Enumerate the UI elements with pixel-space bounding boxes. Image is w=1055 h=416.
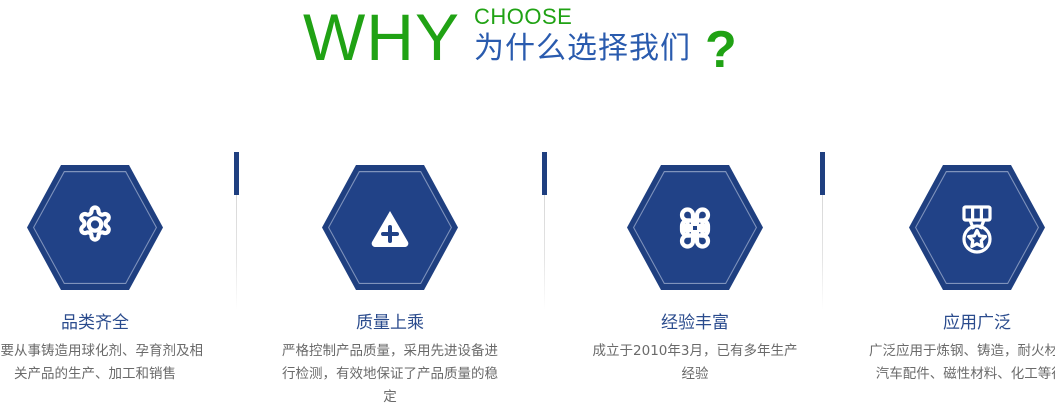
card-title: 品类齐全 — [0, 312, 227, 334]
hexagon-badge — [322, 165, 458, 290]
feature-card-application[interactable]: 应用广泛 广泛应用于炼钢、铸造，耐火材料、汽车配件、磁性材料、化工等行业 — [845, 150, 1055, 386]
header-chinese-title: 为什么选择我们 — [474, 32, 691, 66]
choose-word: CHOOSE — [474, 5, 691, 29]
feature-card-experience[interactable]: 经验丰富 成立于2010年3月，已有多年生产经验 — [563, 150, 827, 386]
feature-cards-row: 品类齐全 主要从事铸造用球化剂、孕育剂及相关产品的生产、加工和销售 质量上乘 严… — [0, 150, 1055, 416]
why-word: WHY — [303, 2, 460, 72]
gear-icon — [27, 165, 163, 290]
card-description: 严格控制产品质量，采用先进设备进行检测，有效地保证了产品质量的稳定 — [258, 340, 522, 409]
hexagon-badge — [627, 165, 763, 290]
medal-icon — [909, 165, 1045, 290]
hexagon-badge — [909, 165, 1045, 290]
card-title: 质量上乘 — [258, 312, 522, 334]
header-text-stack: CHOOSE 为什么选择我们 — [474, 5, 691, 66]
card-title: 应用广泛 — [845, 312, 1055, 334]
question-mark: ? — [705, 22, 737, 78]
card-description: 广泛应用于炼钢、铸造，耐火材料、汽车配件、磁性材料、化工等行业 — [845, 340, 1055, 386]
clover-icon — [627, 165, 763, 290]
triangle-plus-icon — [322, 165, 458, 290]
card-title: 经验丰富 — [563, 312, 827, 334]
feature-card-quality[interactable]: 质量上乘 严格控制产品质量，采用先进设备进行检测，有效地保证了产品质量的稳定 — [258, 150, 522, 409]
feature-card-category[interactable]: 品类齐全 主要从事铸造用球化剂、孕育剂及相关产品的生产、加工和销售 — [0, 150, 227, 386]
card-description: 成立于2010年3月，已有多年生产经验 — [563, 340, 827, 386]
page-header: WHY CHOOSE 为什么选择我们 ? — [0, 0, 1055, 96]
hexagon-badge — [27, 165, 163, 290]
card-description: 主要从事铸造用球化剂、孕育剂及相关产品的生产、加工和销售 — [0, 340, 227, 386]
header-inner: WHY CHOOSE 为什么选择我们 ? — [303, 0, 737, 78]
